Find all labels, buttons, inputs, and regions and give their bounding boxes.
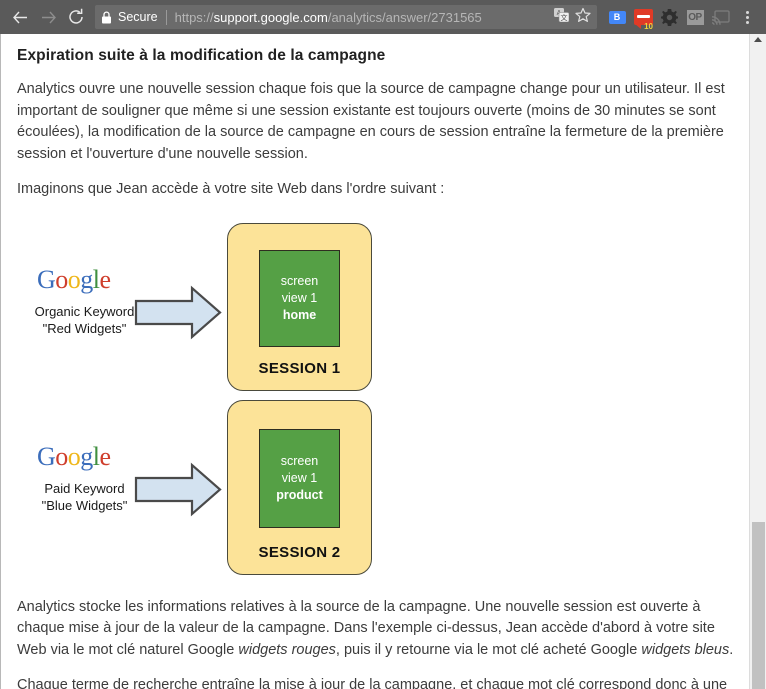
url-path: /analytics/answer/2731565 — [328, 10, 482, 25]
omnibox-divider — [166, 10, 167, 25]
paragraph-search-term: Chaque terme de recherche entraîne la mi… — [17, 675, 741, 689]
translate-icon[interactable]: A 文 — [554, 8, 569, 27]
cast-icon[interactable] — [708, 3, 734, 31]
screen-line-2-a: screen — [281, 453, 319, 470]
google-letter-g2: g — [80, 442, 93, 471]
cast-glyph — [712, 10, 730, 25]
security-label: Secure — [118, 10, 158, 24]
flow-arrow-1 — [134, 285, 222, 340]
session-diagram: Google Organic Keyword "Red Widgets" scr… — [17, 223, 741, 583]
google-letter-o2: o — [68, 442, 81, 471]
svg-text:文: 文 — [561, 13, 568, 22]
paragraph-3-em1: widgets rouges — [238, 642, 336, 658]
tab-manager-icon[interactable]: 10 — [630, 3, 656, 31]
vertical-scrollbar[interactable] — [749, 34, 766, 689]
session-label-1: SESSION 1 — [228, 360, 371, 377]
url-host: support.google.com — [214, 10, 328, 25]
screen-view-box-2: screen view 1 product — [259, 429, 340, 528]
forward-arrow-icon — [40, 9, 57, 26]
google-letter-o1: o — [55, 265, 68, 294]
google-letter-l: l — [93, 265, 100, 294]
extension-badge-icon[interactable]: B — [604, 3, 630, 31]
keyword-line-1-b: "Red Widgets" — [17, 320, 152, 337]
paragraph-example-lead: Imaginons que Jean accède à votre site W… — [17, 179, 741, 201]
session-label-2: SESSION 2 — [228, 544, 371, 561]
google-letter-o1: o — [55, 442, 68, 471]
paragraph-3-part2: , puis il y retourne via le mot clé ache… — [336, 642, 641, 658]
back-arrow-icon — [12, 9, 29, 26]
paragraph-intro: Analytics ouvre une nouvelle session cha… — [17, 79, 741, 165]
screen-line-1-c: home — [283, 307, 316, 324]
keyword-line-1-a: Organic Keyword — [17, 303, 152, 320]
screen-line-1-b: view 1 — [282, 290, 317, 307]
keyword-line-2-a: Paid Keyword — [17, 480, 152, 497]
screen-line-2-b: view 1 — [282, 470, 317, 487]
gear-glyph — [661, 9, 678, 26]
google-letter-g: G — [37, 442, 55, 471]
paragraph-3-em2: widgets bleus — [641, 642, 729, 658]
address-bar[interactable]: Secure https://support.google.com/analyt… — [95, 5, 597, 29]
google-letter-g: G — [37, 265, 55, 294]
screen-line-1-a: screen — [281, 273, 319, 290]
page-viewport: Expiration suite à la modification de la… — [0, 34, 766, 689]
scroll-thumb[interactable] — [752, 522, 765, 689]
google-letter-e: e — [100, 265, 111, 294]
google-letter-o2: o — [68, 265, 81, 294]
google-letter-e: e — [100, 442, 111, 471]
url-text: https://support.google.com/analytics/ans… — [175, 10, 548, 25]
session-box-2: screen view 1 product SESSION 2 — [227, 400, 372, 575]
page-title: Expiration suite à la modification de la… — [17, 47, 741, 65]
menu-dots-glyph — [746, 11, 749, 24]
tab-manager-count: 10 — [644, 23, 653, 31]
lock-icon — [101, 11, 112, 24]
url-scheme: https:// — [175, 10, 214, 25]
op-extension-label: OP — [687, 10, 704, 25]
paragraph-campaign-storage: Analytics stocke les informations relati… — [17, 597, 741, 662]
op-extension-icon[interactable]: OP — [682, 3, 708, 31]
paragraph-3-part3: . — [729, 642, 733, 658]
google-logo-1: Google — [37, 267, 111, 293]
screen-line-2-c: product — [276, 487, 323, 504]
three-dot-menu-icon[interactable] — [734, 3, 760, 31]
back-button[interactable] — [6, 3, 34, 31]
reload-button[interactable] — [62, 3, 90, 31]
session-group-1: Google Organic Keyword "Red Widgets" scr… — [17, 223, 377, 393]
session-group-2: Google Paid Keyword "Blue Widgets" scree… — [17, 400, 377, 580]
keyword-caption-1: Organic Keyword "Red Widgets" — [17, 303, 152, 337]
extension-badge-glyph: B — [609, 11, 626, 24]
keyword-line-2-b: "Blue Widgets" — [17, 497, 152, 514]
star-icon[interactable] — [575, 7, 591, 28]
google-letter-l: l — [93, 442, 100, 471]
gear-icon[interactable] — [656, 3, 682, 31]
screen-view-box-1: screen view 1 home — [259, 250, 340, 347]
article-content: Expiration suite à la modification de la… — [17, 34, 741, 689]
omnibox-actions: A 文 — [548, 7, 591, 28]
forward-button[interactable] — [34, 3, 62, 31]
scroll-up-arrow-icon[interactable] — [754, 37, 762, 42]
google-logo-2: Google — [37, 444, 111, 470]
google-letter-g2: g — [80, 265, 93, 294]
browser-toolbar: Secure https://support.google.com/analyt… — [0, 0, 766, 34]
flow-arrow-2 — [134, 462, 222, 517]
session-box-1: screen view 1 home SESSION 1 — [227, 223, 372, 391]
reload-icon — [67, 8, 85, 26]
keyword-caption-2: Paid Keyword "Blue Widgets" — [17, 480, 152, 514]
